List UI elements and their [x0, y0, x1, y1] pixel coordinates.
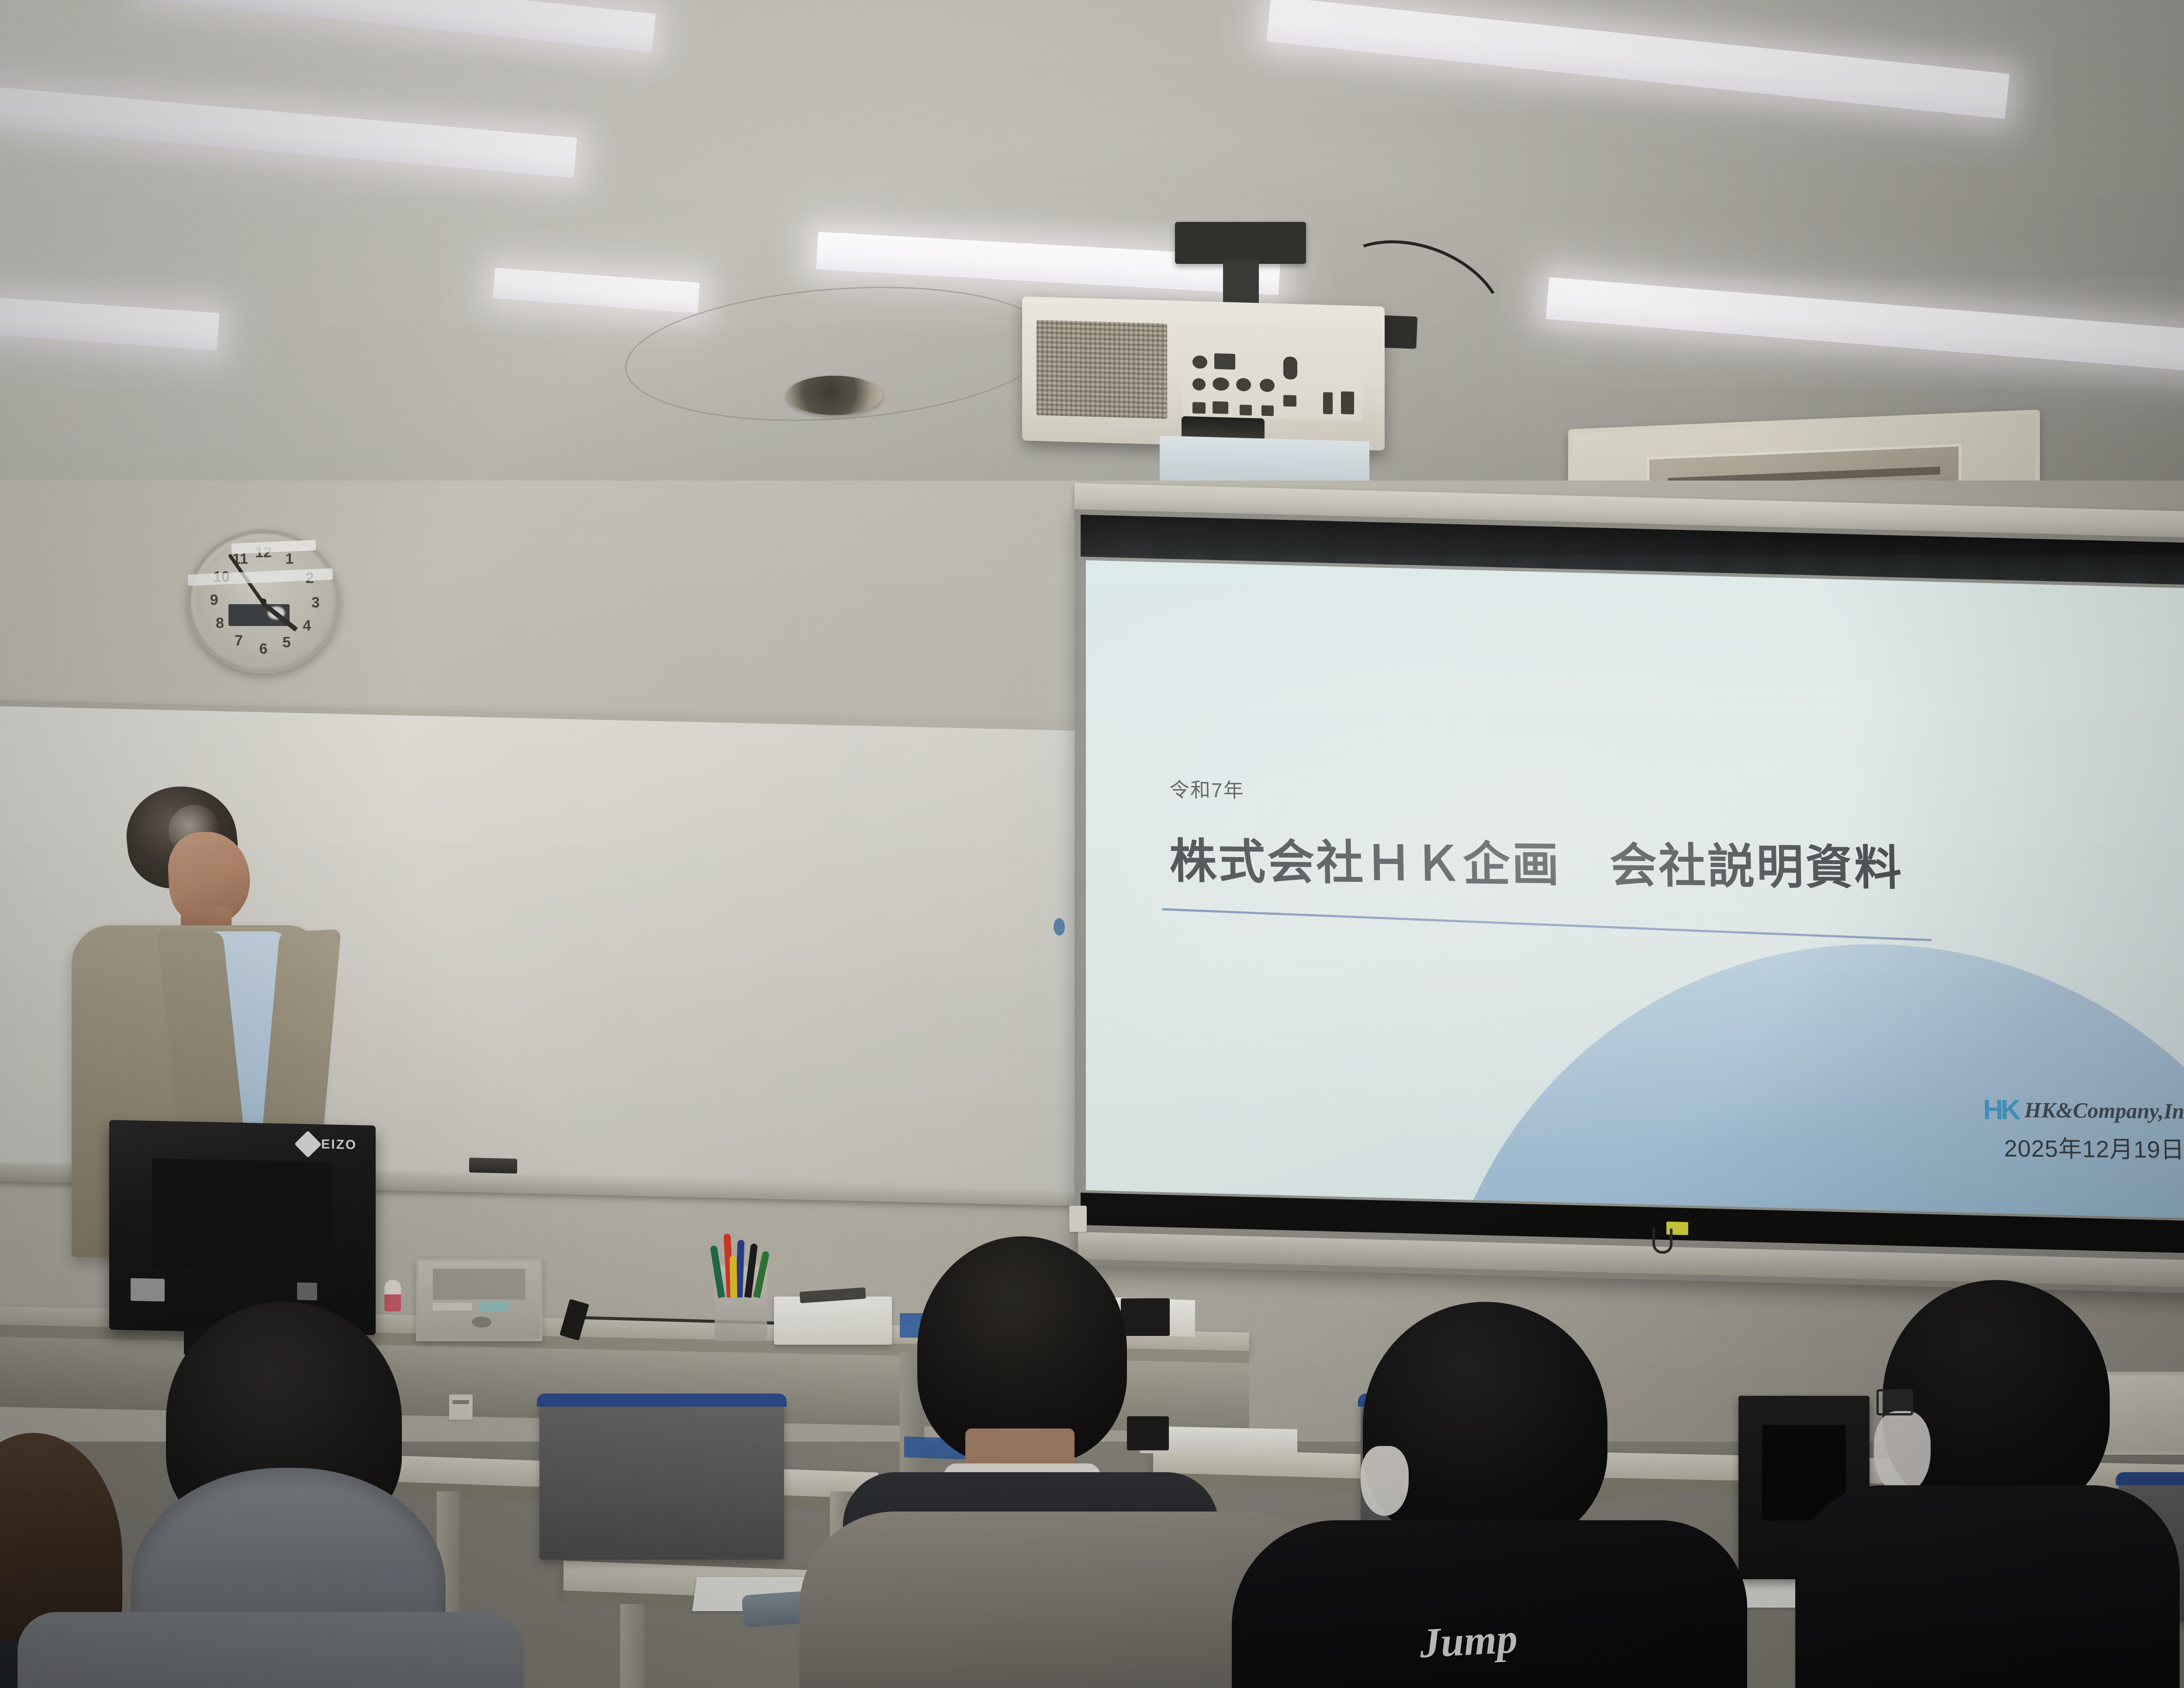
hk-logo-icon: HK: [1983, 1096, 2018, 1124]
eyeglasses-icon: [1876, 1389, 1913, 1415]
whiteboard-corner-bracket: [1069, 1206, 1087, 1232]
clock-numeral: 9: [210, 591, 218, 609]
eizo-monitor[interactable]: EIZO: [109, 1120, 376, 1335]
wall-clock: 12 1 2 3 4 5 6 7 8 9 10 11: [187, 529, 340, 674]
ceiling-vent-icon: [786, 376, 882, 415]
audience-hair: [1363, 1302, 1607, 1546]
slide-era-label: 令和7年: [1169, 774, 1244, 804]
monitor-label-sticker: [131, 1278, 165, 1301]
monitor-brand-label: EIZO: [321, 1137, 357, 1153]
clock-numeral: 1: [285, 551, 294, 568]
projector-ceiling-plate: [1175, 222, 1306, 264]
slide-logo: HK HK&Company,Inc: [1983, 1096, 2184, 1125]
slide-title-rule: [1162, 908, 1932, 941]
clock-pivot: [260, 598, 266, 605]
projection-screen: 令和7年 株式会社ＨＫ企画 会社説明資料 HK HK&Company,Inc 2…: [1075, 483, 2184, 1295]
clock-numeral: 6: [259, 641, 268, 658]
audience-member: Jump: [1258, 1302, 1773, 1688]
monitor-port: [297, 1283, 317, 1301]
clock-numeral: 5: [283, 634, 291, 651]
desk-leg: [620, 1604, 645, 1688]
monitor-brand: EIZO: [298, 1135, 357, 1155]
face-mask: [1874, 1411, 1931, 1494]
clock-numeral: 8: [216, 615, 224, 632]
audience-torso: [1795, 1485, 2180, 1688]
monitor-stand-hump: [152, 1159, 333, 1271]
audience-member: [79, 1311, 498, 1688]
audience-jacket-body: [17, 1612, 524, 1688]
company-name: HK&Company,Inc: [2024, 1097, 2184, 1124]
screen-pull-loop-icon[interactable]: [1652, 1228, 1673, 1254]
chair-trim: [537, 1394, 787, 1407]
pen-cup[interactable]: [715, 1266, 767, 1341]
projector-vent-grille: [1037, 320, 1167, 419]
hoodie-logo-text: Jump: [1418, 1614, 1519, 1667]
whiteboard-magnet[interactable]: [1054, 918, 1065, 936]
slide-date: 2025年12月19日: [2004, 1129, 2184, 1165]
clock-numeral: 7: [235, 633, 243, 650]
classroom-photo: 12 1 2 3 4 5 6 7 8 9 10 11 令和7年: [0, 0, 2184, 1688]
whiteboard-eraser[interactable]: [469, 1158, 517, 1173]
audience-member: [1804, 1280, 2162, 1688]
projected-slide: 令和7年 株式会社ＨＫ企画 会社説明資料 HK HK&Company,Inc 2…: [1086, 560, 2184, 1219]
slide-title: 株式会社ＨＫ企画 会社説明資料: [1169, 823, 1904, 898]
face-mask: [1361, 1446, 1409, 1516]
eizo-logo-icon: [294, 1131, 321, 1158]
clock-numeral: 4: [303, 618, 311, 635]
projector: [1022, 296, 1385, 450]
classroom-chair[interactable]: [539, 1398, 784, 1560]
projector-port-panel: [1182, 350, 1363, 421]
clock-numeral: 3: [311, 595, 320, 612]
